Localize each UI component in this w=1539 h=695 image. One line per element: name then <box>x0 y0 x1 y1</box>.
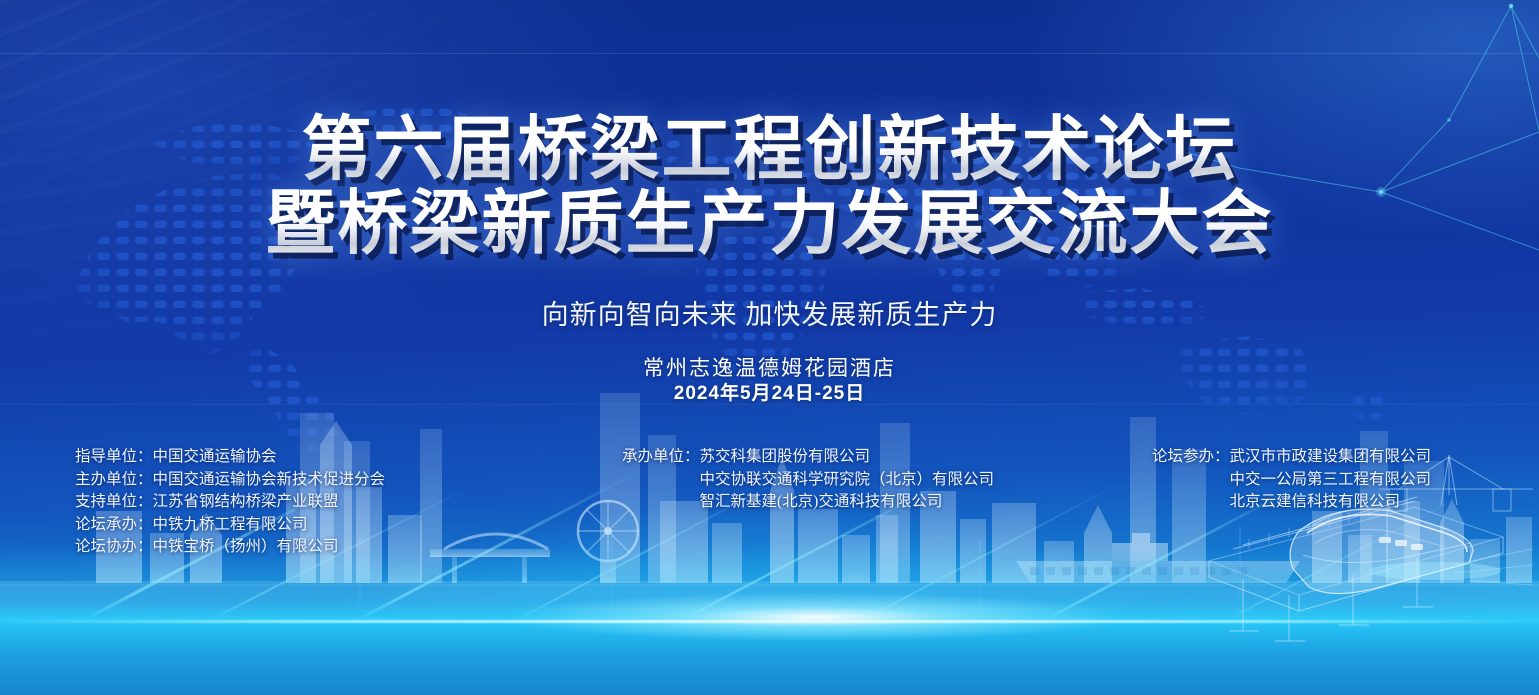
org-value: 苏交科集团股份有限公司 <box>700 446 995 469</box>
organizations-left: 指导单位： 中国交通运输协会 主办单位： 中国交通运输协会新技术促进分会 支持单… <box>75 446 385 559</box>
org-row: 支持单位： 江苏省钢结构桥梁产业联盟 <box>75 491 385 514</box>
org-value-group: 武汉市市政建设集团有限公司 中交一公局第三工程有限公司 北京云建信科技有限公司 <box>1230 446 1432 514</box>
org-value: 中交协联交通科学研究院（北京）有限公司 <box>700 469 995 492</box>
org-value: 中铁宝桥（扬州）有限公司 <box>153 536 339 559</box>
org-value: 北京云建信科技有限公司 <box>1230 491 1432 514</box>
date-text: 2024年5月24日-25日 <box>0 378 1539 405</box>
main-title-line-2: 暨桥梁新质生产力发展交流大会 <box>0 186 1539 260</box>
org-value: 中国交通运输协会新技术促进分会 <box>153 469 386 492</box>
org-label: 主办单位： <box>75 469 153 492</box>
org-row: 主办单位： 中国交通运输协会新技术促进分会 <box>75 469 385 492</box>
main-title-line-1: 第六届桥梁工程创新技术论坛 <box>0 112 1539 186</box>
org-row: 承办单位： 苏交科集团股份有限公司 中交协联交通科学研究院（北京）有限公司 智汇… <box>622 446 994 514</box>
conference-banner: 第六届桥梁工程创新技术论坛 暨桥梁新质生产力发展交流大会 向新向智向未来 加快发… <box>0 0 1539 695</box>
org-value: 江苏省钢结构桥梁产业联盟 <box>153 491 339 514</box>
org-label: 指导单位： <box>75 446 153 469</box>
title-block: 第六届桥梁工程创新技术论坛 暨桥梁新质生产力发展交流大会 <box>0 112 1539 260</box>
org-value: 中国交通运输协会 <box>153 446 277 469</box>
org-value: 智汇新基建(北京)交通科技有限公司 <box>700 491 995 514</box>
org-row: 论坛承办： 中铁九桥工程有限公司 <box>75 514 385 537</box>
org-value: 中交一公局第三工程有限公司 <box>1230 469 1432 492</box>
org-row: 论坛参办： 武汉市市政建设集团有限公司 中交一公局第三工程有限公司 北京云建信科… <box>1152 446 1431 514</box>
org-label: 支持单位： <box>75 491 153 514</box>
org-label: 承办单位： <box>622 446 700 514</box>
org-label: 论坛参办： <box>1152 446 1230 514</box>
org-value: 武汉市市政建设集团有限公司 <box>1230 446 1432 469</box>
organizations-right: 论坛参办： 武汉市市政建设集团有限公司 中交一公局第三工程有限公司 北京云建信科… <box>1152 446 1431 514</box>
organizations-middle: 承办单位： 苏交科集团股份有限公司 中交协联交通科学研究院（北京）有限公司 智汇… <box>622 446 994 514</box>
org-value-group: 苏交科集团股份有限公司 中交协联交通科学研究院（北京）有限公司 智汇新基建(北京… <box>700 446 995 514</box>
org-value: 中铁九桥工程有限公司 <box>153 514 308 537</box>
subtitle: 向新向智向未来 加快发展新质生产力 <box>0 293 1539 332</box>
org-row: 指导单位： 中国交通运输协会 <box>75 446 385 469</box>
org-label: 论坛协办： <box>75 536 153 559</box>
org-label: 论坛承办： <box>75 514 153 537</box>
org-row: 论坛协办： 中铁宝桥（扬州）有限公司 <box>75 536 385 559</box>
